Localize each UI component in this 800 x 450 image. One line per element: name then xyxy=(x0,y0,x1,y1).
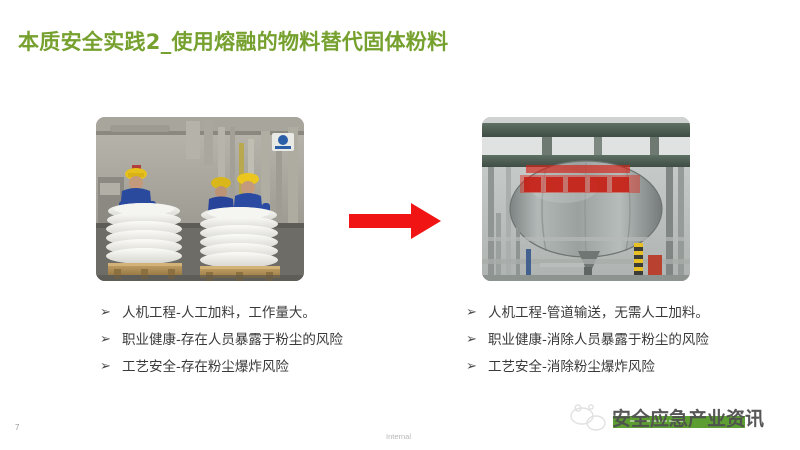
watermark: 安全应急产业资讯 xyxy=(560,398,790,442)
after-photo xyxy=(482,117,690,281)
list-item-label: 职业健康-存在人员暴露于粉尘的风险 xyxy=(122,331,410,349)
list-item: ➢ 人机工程-管道输送，无需人工加料。 xyxy=(466,304,776,322)
list-item: ➢ 工艺安全-存在粉尘爆炸风险 xyxy=(100,358,410,376)
arrow-bullet-icon: ➢ xyxy=(100,358,122,376)
tank-label xyxy=(520,165,640,193)
arrow-bullet-icon: ➢ xyxy=(100,331,122,349)
arrow-bullet-icon: ➢ xyxy=(100,304,122,322)
factory-bagging-photo xyxy=(96,117,304,281)
list-item: ➢ 职业健康-存在人员暴露于粉尘的风险 xyxy=(100,331,410,349)
right-arrow-icon xyxy=(345,198,445,244)
speech-bubble-icon xyxy=(571,405,605,430)
list-item: ➢ 工艺安全-消除粉尘爆炸风险 xyxy=(466,358,776,376)
list-item-label: 工艺安全-消除粉尘爆炸风险 xyxy=(488,358,776,376)
confidentiality-label: Internal xyxy=(386,432,411,441)
watermark-text: 安全应急产业资讯 xyxy=(612,407,764,430)
after-bullet-list: ➢ 人机工程-管道输送，无需人工加料。 ➢ 职业健康-消除人员暴露于粉尘的风险 … xyxy=(466,304,776,385)
arrow-bullet-icon: ➢ xyxy=(466,331,488,349)
list-item-label: 工艺安全-存在粉尘爆炸风险 xyxy=(122,358,410,376)
before-photo xyxy=(96,117,304,281)
list-item-label: 职业健康-消除人员暴露于粉尘的风险 xyxy=(488,331,776,349)
arrow-bullet-icon: ➢ xyxy=(466,358,488,376)
list-item: ➢ 人机工程-人工加料，工作量大。 xyxy=(100,304,410,322)
list-item: ➢ 职业健康-消除人员暴露于粉尘的风险 xyxy=(466,331,776,349)
list-item-label: 人机工程-人工加料，工作量大。 xyxy=(122,304,410,322)
slide-canvas: 本质安全实践2_使用熔融的物料替代固体粉料 xyxy=(0,0,800,450)
arrow-bullet-icon: ➢ xyxy=(466,304,488,322)
page-title: 本质安全实践2_使用熔融的物料替代固体粉料 xyxy=(18,26,448,56)
list-item-label: 人机工程-管道输送，无需人工加料。 xyxy=(488,304,776,322)
before-bullet-list: ➢ 人机工程-人工加料，工作量大。 ➢ 职业健康-存在人员暴露于粉尘的风险 ➢ … xyxy=(100,304,410,385)
storage-tank-photo xyxy=(482,117,690,281)
page-number: 7 xyxy=(15,423,19,432)
